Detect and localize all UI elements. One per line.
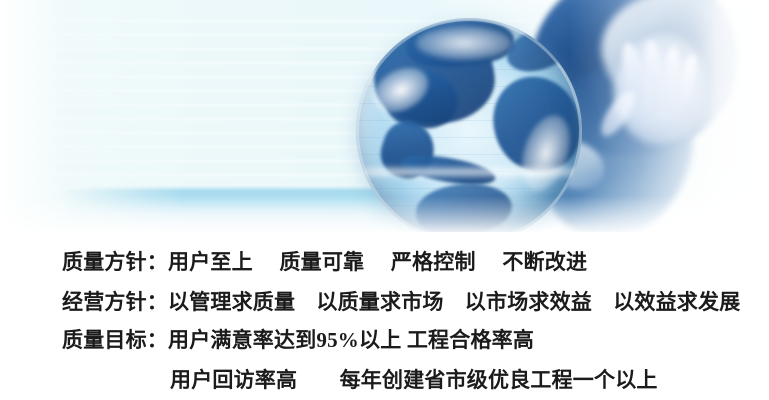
quality-target-line: 质量目标：用户满意率达到95%以上 工程合格率高 xyxy=(62,324,534,354)
quality-target-line-continued: 用户回访率高 每年创建省市级优良工程一个以上 xyxy=(170,364,658,394)
quality-policy-line: 质量方针：用户至上 质量可靠 严格控制 不断改进 xyxy=(62,246,587,276)
banner-right-fade xyxy=(569,0,769,232)
promotional-banner-page: 质量方针：用户至上 质量可靠 严格控制 不断改进 经营方针：以管理求质量 以质量… xyxy=(0,0,769,400)
company-policy-text-block: 质量方针：用户至上 质量可靠 严格控制 不断改进 经营方针：以管理求质量 以质量… xyxy=(0,232,769,400)
business-policy-line: 经营方针：以管理求质量 以质量求市场 以市场求效益 以效益求发展 xyxy=(62,286,740,316)
hero-banner-image xyxy=(0,0,769,232)
